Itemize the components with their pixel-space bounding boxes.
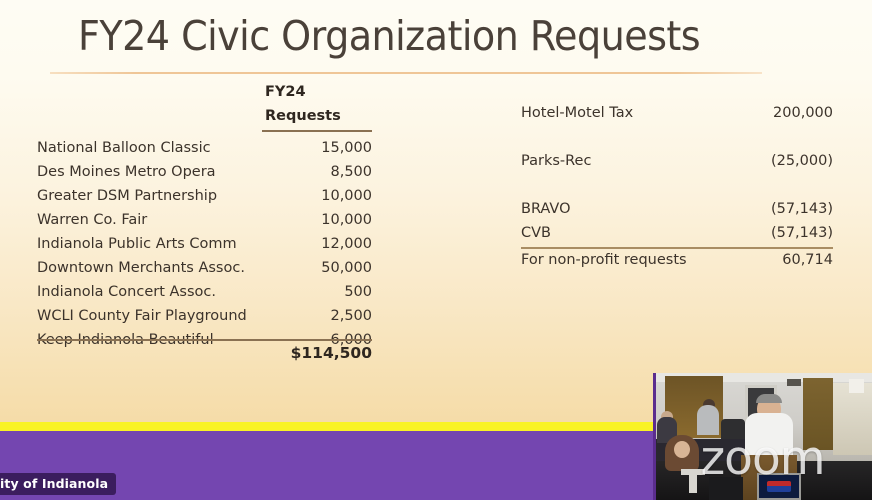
row-label: National Balloon Classic	[37, 140, 211, 156]
row-value: 50,000	[321, 260, 372, 276]
table-row: Downtown Merchants Assoc. 50,000	[37, 260, 372, 283]
table-row: Warren Co. Fair 10,000	[37, 212, 372, 235]
table-row: For non-profit requests 60,714	[521, 252, 833, 275]
row-value: 10,000	[321, 188, 372, 204]
table-row: Hotel-Motel Tax 200,000	[521, 105, 833, 128]
presentation-slide: FY24 Civic Organization Requests FY24 Re…	[0, 0, 872, 422]
table-row: Des Moines Metro Opera 8,500	[37, 164, 372, 187]
zoom-screenshare-view: FY24 Civic Organization Requests FY24 Re…	[0, 0, 872, 500]
total-underline	[37, 339, 372, 341]
row-label: Parks-Rec	[521, 153, 591, 169]
row-label: Downtown Merchants Assoc.	[37, 260, 245, 276]
row-value: 60,714	[782, 252, 833, 268]
table-row: WCLI County Fair Playground 2,500	[37, 308, 372, 331]
column-header-fy24: FY24	[265, 84, 306, 100]
wall-poster	[787, 379, 801, 386]
row-label: Greater DSM Partnership	[37, 188, 217, 204]
row-label: For non-profit requests	[521, 252, 687, 268]
row-value: 10,000	[321, 212, 372, 228]
wall-sign	[849, 379, 864, 393]
row-value: 8,500	[330, 164, 372, 180]
table-row: Parks-Rec (25,000)	[521, 153, 833, 176]
hotel-motel-tax-table: Hotel-Motel Tax 200,000 Parks-Rec (25,00…	[521, 105, 833, 270]
column-header-underline	[262, 130, 372, 132]
page-title: FY24 Civic Organization Requests	[78, 12, 700, 60]
table-row: Greater DSM Partnership 10,000	[37, 188, 372, 211]
row-label: CVB	[521, 225, 551, 241]
civic-requests-table: FY24 Requests National Balloon Classic 1…	[37, 84, 372, 359]
title-divider	[50, 72, 762, 74]
row-value: 200,000	[773, 105, 833, 121]
row-value: (25,000)	[771, 153, 833, 169]
column-header-requests: Requests	[265, 108, 341, 124]
speaker-hair	[756, 394, 782, 403]
video-thumbnail-tile[interactable]: zoom	[653, 373, 872, 500]
row-value: 12,000	[321, 236, 372, 252]
row-label: Des Moines Metro Opera	[37, 164, 216, 180]
row-value: (57,143)	[771, 201, 833, 217]
row-label: Indianola Public Arts Comm	[37, 236, 237, 252]
row-value: 15,000	[321, 140, 372, 156]
row-value: 2,500	[330, 308, 372, 324]
row-label: BRAVO	[521, 201, 571, 217]
table-row: BRAVO (57,143)	[521, 201, 833, 224]
row-value: (57,143)	[771, 225, 833, 241]
table-row: CVB (57,143)	[521, 225, 833, 248]
subtotal-underline	[521, 247, 833, 249]
zoom-watermark: zoom	[653, 435, 872, 482]
table-row: National Balloon Classic 15,000	[37, 140, 372, 163]
total-value: $114,500	[291, 344, 372, 362]
row-label: Indianola Concert Assoc.	[37, 284, 216, 300]
row-label: Warren Co. Fair	[37, 212, 147, 228]
row-value: 500	[344, 284, 372, 300]
table-row: Indianola Concert Assoc. 500	[37, 284, 372, 307]
row-label: WCLI County Fair Playground	[37, 308, 247, 324]
table-row: Indianola Public Arts Comm 12,000	[37, 236, 372, 259]
row-label: Hotel-Motel Tax	[521, 105, 633, 121]
participant-name-badge: ity of Indianola	[0, 473, 116, 495]
